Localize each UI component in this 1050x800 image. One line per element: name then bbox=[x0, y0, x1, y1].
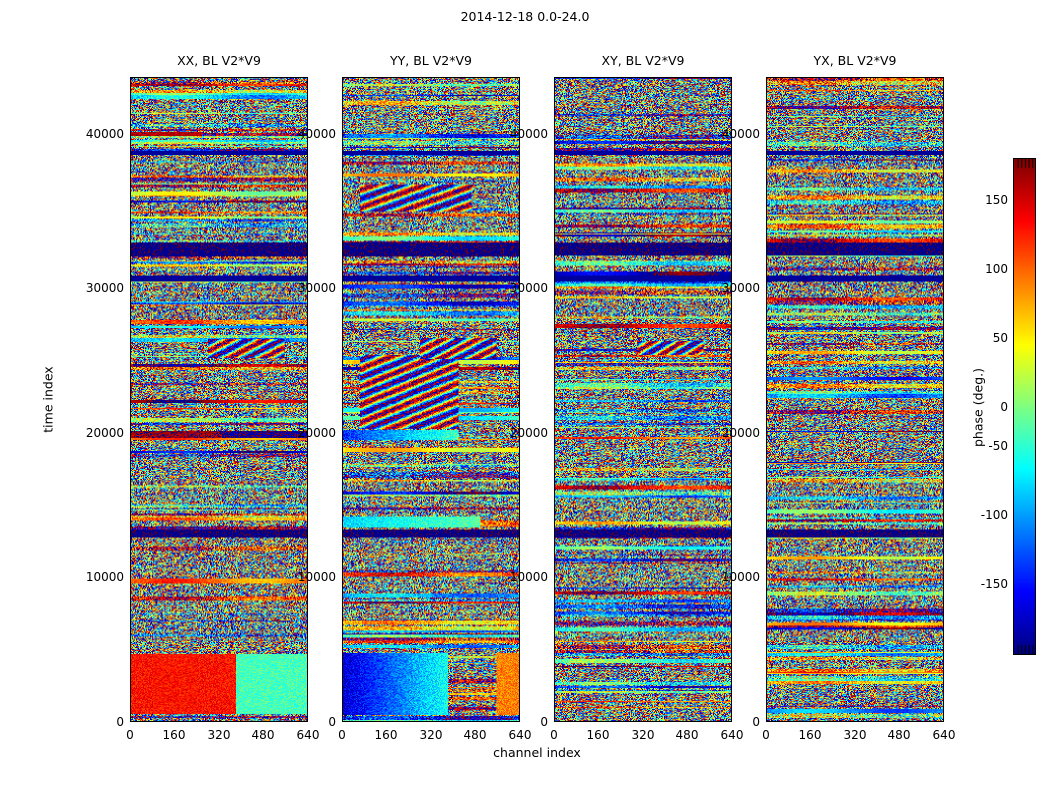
ytick-label-p4-40000: 40000 bbox=[702, 128, 760, 140]
ytick-label-p1-0: 0 bbox=[66, 716, 124, 728]
ytick-label-p4-0: 0 bbox=[702, 716, 760, 728]
heatmap-panel-yx[interactable] bbox=[766, 77, 944, 722]
xtick-label-p1-640: 640 bbox=[290, 729, 326, 741]
colorbar-tick-150: 150 bbox=[955, 194, 1008, 206]
xtick-label-p4-160: 160 bbox=[792, 729, 828, 741]
figure-canvas: 2014-12-18 0.0-24.0 XX, BL V2*V9 YY, BL … bbox=[0, 0, 1050, 800]
y-axis-label: time index bbox=[41, 350, 56, 450]
figure-suptitle: 2014-12-18 0.0-24.0 bbox=[0, 10, 1050, 24]
xtick-label-p1-0: 0 bbox=[112, 729, 148, 741]
xtick-label-p1-160: 160 bbox=[156, 729, 192, 741]
ytick-label-p4-30000: 30000 bbox=[702, 282, 760, 294]
ytick-label-p1-10000: 10000 bbox=[66, 571, 124, 583]
ytick-label-p2-40000: 40000 bbox=[278, 128, 336, 140]
xtick-label-p3-480: 480 bbox=[669, 729, 705, 741]
xtick-label-p3-320: 320 bbox=[625, 729, 661, 741]
colorbar[interactable] bbox=[1013, 158, 1036, 655]
ytick-label-p2-30000: 30000 bbox=[278, 282, 336, 294]
xtick-label-p4-480: 480 bbox=[881, 729, 917, 741]
xtick-label-p4-320: 320 bbox=[837, 729, 873, 741]
colorbar-tick-100: 100 bbox=[955, 263, 1008, 275]
ytick-label-p1-30000: 30000 bbox=[66, 282, 124, 294]
ytick-label-p3-10000: 10000 bbox=[490, 571, 548, 583]
xtick-label-p2-640: 640 bbox=[502, 729, 538, 741]
panel-title-yx: YX, BL V2*V9 bbox=[766, 54, 944, 68]
ytick-label-p1-20000: 20000 bbox=[66, 427, 124, 439]
xtick-label-p1-320: 320 bbox=[201, 729, 237, 741]
panel-title-xy: XY, BL V2*V9 bbox=[554, 54, 732, 68]
xtick-label-p4-0: 0 bbox=[748, 729, 784, 741]
xtick-label-p2-160: 160 bbox=[368, 729, 404, 741]
heatmap-panel-xx[interactable] bbox=[130, 77, 308, 722]
ytick-label-p3-0: 0 bbox=[490, 716, 548, 728]
xtick-label-p3-0: 0 bbox=[536, 729, 572, 741]
ytick-label-p4-10000: 10000 bbox=[702, 571, 760, 583]
ytick-label-p2-20000: 20000 bbox=[278, 427, 336, 439]
heatmap-panel-xy[interactable] bbox=[554, 77, 732, 722]
panel-title-xx: XX, BL V2*V9 bbox=[130, 54, 308, 68]
ytick-label-p3-20000: 20000 bbox=[490, 427, 548, 439]
xtick-label-p3-160: 160 bbox=[580, 729, 616, 741]
xtick-label-p2-320: 320 bbox=[413, 729, 449, 741]
x-axis-label: channel index bbox=[387, 745, 687, 760]
xtick-label-p2-480: 480 bbox=[457, 729, 493, 741]
xtick-label-p4-640: 640 bbox=[926, 729, 962, 741]
colorbar-tick--100: -100 bbox=[955, 509, 1008, 521]
ytick-label-p3-30000: 30000 bbox=[490, 282, 548, 294]
panel-title-yy: YY, BL V2*V9 bbox=[342, 54, 520, 68]
colorbar-label: phase (deg.) bbox=[971, 338, 986, 478]
ytick-label-p1-40000: 40000 bbox=[66, 128, 124, 140]
ytick-label-p3-40000: 40000 bbox=[490, 128, 548, 140]
xtick-label-p2-0: 0 bbox=[324, 729, 360, 741]
xtick-label-p3-640: 640 bbox=[714, 729, 750, 741]
xtick-label-p1-480: 480 bbox=[245, 729, 281, 741]
ytick-label-p2-0: 0 bbox=[278, 716, 336, 728]
ytick-label-p2-10000: 10000 bbox=[278, 571, 336, 583]
heatmap-panel-yy[interactable] bbox=[342, 77, 520, 722]
colorbar-tick--150: -150 bbox=[955, 578, 1008, 590]
ytick-label-p4-20000: 20000 bbox=[702, 427, 760, 439]
